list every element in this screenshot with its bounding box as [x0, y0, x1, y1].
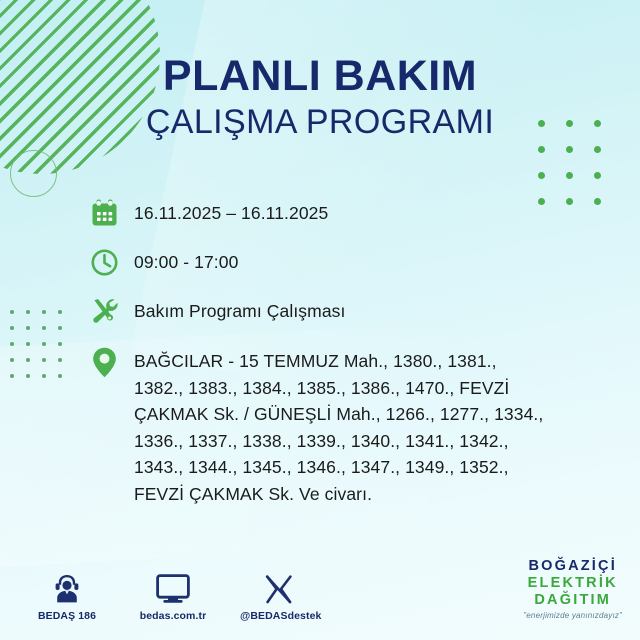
bedas-logo: BOĞAZİÇİ ELEKTRİK DAĞITIM ”enerjimizde y…	[523, 558, 622, 620]
poster-footer: BEDAŞ 186 bedas.com.tr	[0, 548, 640, 630]
dot-grid-decoration-left	[10, 310, 74, 390]
calendar-icon	[86, 197, 122, 229]
address-line: ÇAKMAK Sk. / GÜNEŞLİ Mah., 1266., 1277.,…	[134, 404, 543, 424]
page-subtitle: ÇALIŞMA PROGRAMI	[0, 103, 640, 141]
support-headset-icon	[28, 568, 106, 604]
logo-tagline: ”enerjimizde yanınızdayız”	[523, 611, 622, 620]
planned-maintenance-poster: PLANLI BAKIM ÇALIŞMA PROGRAMI	[0, 0, 640, 640]
contact-list: BEDAŞ 186 bedas.com.tr	[28, 568, 318, 622]
info-list: 16.11.2025 – 16.11.2025 09:00 - 17:00	[86, 197, 606, 508]
address-line: 1343., 1344., 1345., 1346., 1347., 1349.…	[134, 457, 509, 477]
address-line: 1382., 1383., 1384., 1385., 1386., 1470.…	[134, 378, 509, 398]
page-title: PLANLI BAKIM	[0, 54, 640, 99]
location-pin-icon	[86, 344, 122, 378]
date-range-text: 16.11.2025 – 16.11.2025	[134, 197, 328, 226]
address-line: 1336., 1337., 1338., 1339., 1340., 1341.…	[134, 431, 509, 451]
x-twitter-icon	[240, 568, 318, 604]
info-row-date: 16.11.2025 – 16.11.2025	[86, 197, 606, 229]
circle-outline-decoration	[10, 150, 57, 197]
logo-line-dagitim: DAĞITIM	[523, 592, 622, 609]
contact-social-x[interactable]: @BEDASdestek	[240, 568, 318, 622]
contact-phone-label: BEDAŞ 186	[28, 610, 106, 622]
logo-line-elektrik: ELEKTRİK	[523, 575, 622, 592]
poster-header: PLANLI BAKIM ÇALIŞMA PROGRAMI	[0, 54, 640, 141]
contact-website[interactable]: bedas.com.tr	[134, 568, 212, 622]
contact-social-label: @BEDASdestek	[240, 610, 318, 622]
address-line: FEVZİ ÇAKMAK Sk. Ve civarı.	[134, 484, 372, 504]
work-type-text: Bakım Programı Çalışması	[134, 295, 345, 324]
address-text: BAĞCILAR - 15 TEMMUZ Mah., 1380., 1381.,…	[134, 344, 543, 508]
clock-icon	[86, 246, 122, 278]
info-row-address: BAĞCILAR - 15 TEMMUZ Mah., 1380., 1381.,…	[86, 344, 606, 508]
info-row-time: 09:00 - 17:00	[86, 246, 606, 278]
info-row-work-type: Bakım Programı Çalışması	[86, 295, 606, 327]
address-line: BAĞCILAR - 15 TEMMUZ Mah., 1380., 1381.,	[134, 351, 497, 371]
tools-icon	[86, 295, 122, 327]
contact-phone[interactable]: BEDAŞ 186	[28, 568, 106, 622]
logo-line-bogazici: BOĞAZİÇİ	[523, 558, 622, 575]
contact-website-label: bedas.com.tr	[134, 610, 212, 622]
time-range-text: 09:00 - 17:00	[134, 246, 238, 275]
monitor-icon	[134, 568, 212, 604]
